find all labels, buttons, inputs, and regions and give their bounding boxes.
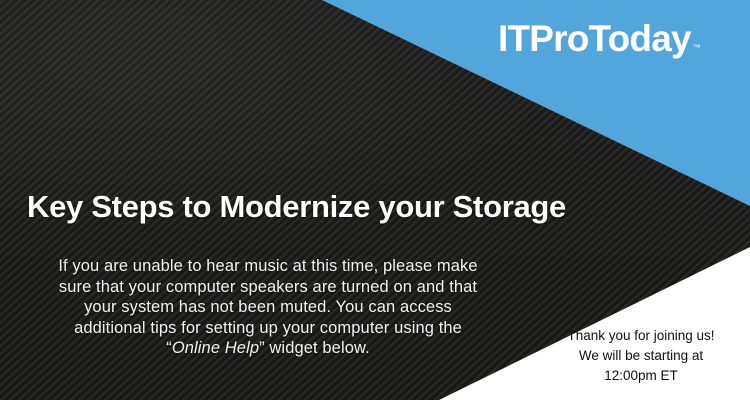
audio-instructions-text: If you are unable to hear music at this … bbox=[16, 256, 520, 359]
instructions-line-1: If you are unable to hear music at this … bbox=[16, 256, 520, 277]
instructions-line-4: additional tips for setting up your comp… bbox=[16, 318, 520, 339]
trademark-symbol: ™ bbox=[693, 44, 701, 52]
itprotoday-logo: ITProToday ™ bbox=[498, 20, 701, 57]
instructions-line-3: your system has not been muted. You can … bbox=[16, 297, 520, 318]
thanks-line-2: We will be starting at bbox=[548, 346, 734, 366]
thanks-line-1: Thank you for joining us! bbox=[548, 326, 734, 346]
close-quote-and-suffix: ” widget below. bbox=[259, 339, 370, 357]
webinar-holding-slide: ITProToday ™ Key Steps to Modernize your… bbox=[0, 0, 750, 400]
online-help-widget-name: Online Help bbox=[172, 339, 259, 357]
start-time: 12:00pm ET bbox=[548, 366, 734, 386]
logo-wordmark: ITProToday bbox=[498, 20, 691, 57]
page-title: Key Steps to Modernize your Storage bbox=[27, 189, 566, 225]
instructions-line-5: “Online Help” widget below. bbox=[16, 338, 520, 359]
start-time-notice: Thank you for joining us! We will be sta… bbox=[548, 326, 734, 386]
instructions-line-2: sure that your computer speakers are tur… bbox=[16, 277, 520, 298]
